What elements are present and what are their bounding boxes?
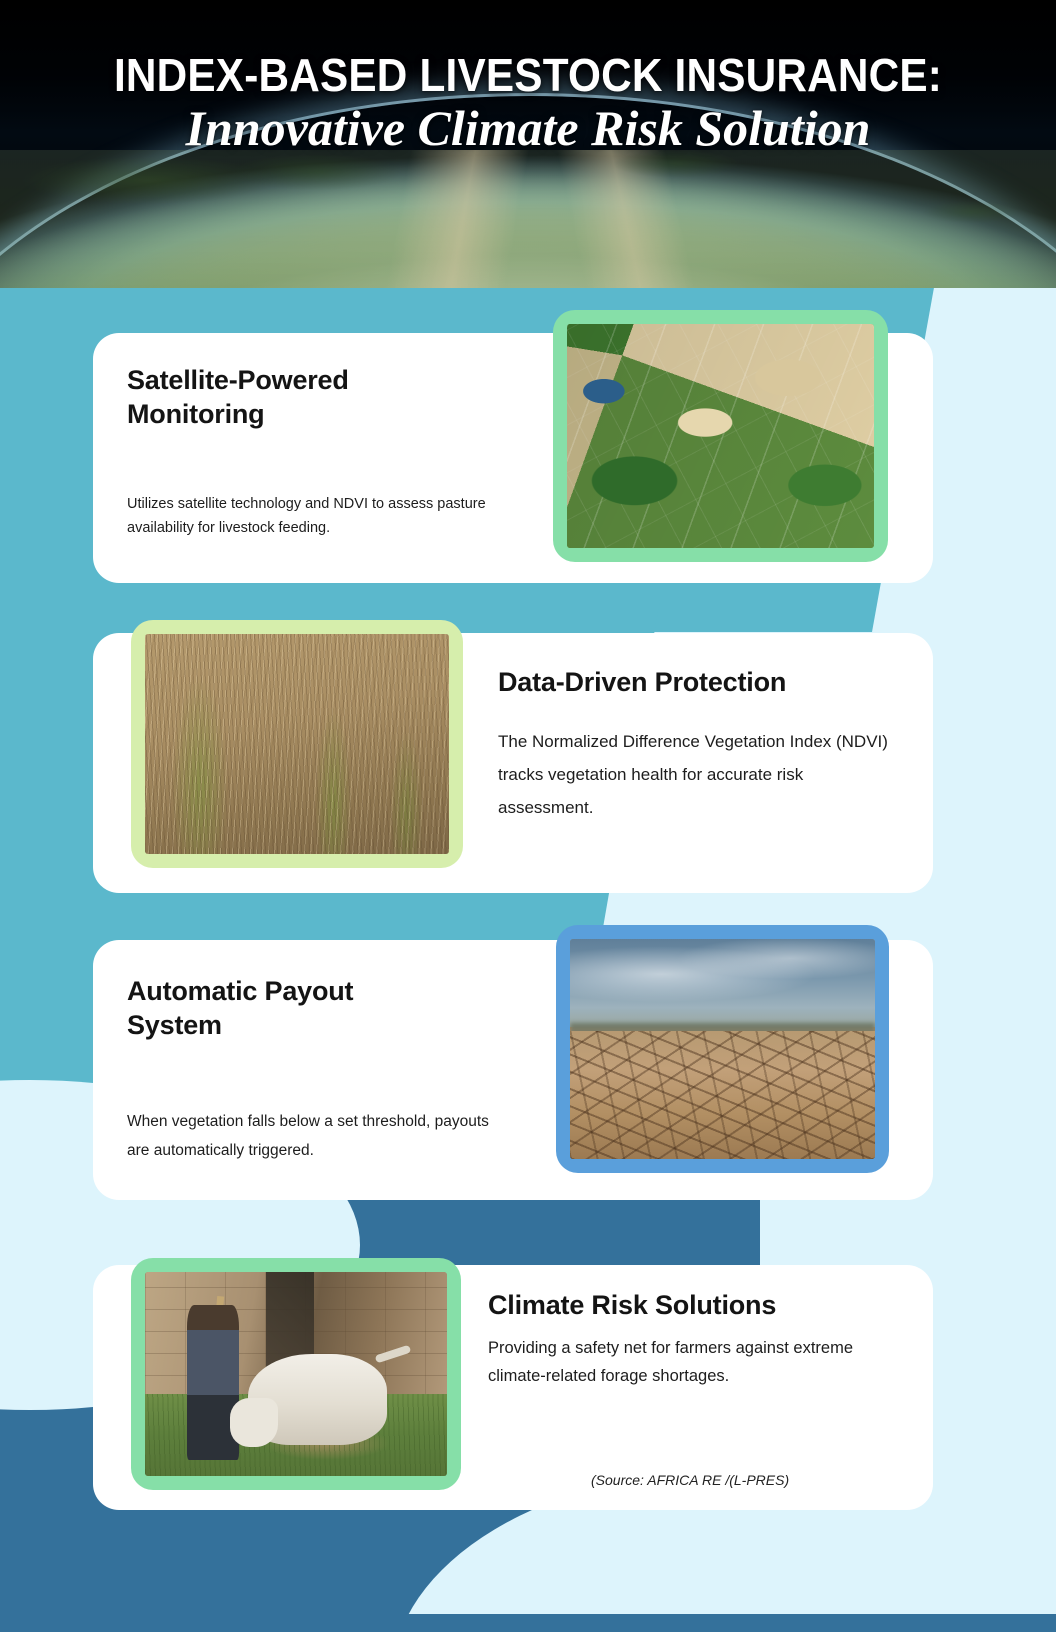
card-body-satellite-powered-monitoring: Utilizes satellite technology and NDVI t… xyxy=(127,493,502,540)
card-body-automatic-payout-system: When vegetation falls below a set thresh… xyxy=(127,1108,515,1165)
infographic-page: INDEX-BASED LIVESTOCK INSURANCE: Innovat… xyxy=(0,0,1056,1632)
cracked-dry-earth-drought-photo xyxy=(570,939,875,1159)
card-title-data-driven-protection: Data-Driven Protection xyxy=(498,665,908,699)
dry-grass-pasture-photo xyxy=(145,634,449,854)
header-banner: INDEX-BASED LIVESTOCK INSURANCE: Innovat… xyxy=(0,0,1056,288)
herder-with-cow-photo xyxy=(145,1272,447,1476)
card-title-satellite-powered-monitoring: Satellite-Powered Monitoring xyxy=(127,363,427,431)
page-title-line-1: INDEX-BASED LIVESTOCK INSURANCE: xyxy=(42,52,1014,98)
card-title-climate-risk-solutions: Climate Risk Solutions xyxy=(488,1288,908,1322)
background-bottom-strip xyxy=(0,1614,1056,1632)
source-note: (Source: AFRICA RE /(L-PRES) xyxy=(591,1472,789,1488)
card-body-climate-risk-solutions: Providing a safety net for farmers again… xyxy=(488,1334,880,1391)
page-title-line-2: Innovative Climate Risk Solution xyxy=(0,103,1056,153)
aerial-farmland-fields-photo xyxy=(567,324,874,548)
card-image-frame-aerial-farmland xyxy=(553,310,888,562)
page-title: INDEX-BASED LIVESTOCK INSURANCE: Innovat… xyxy=(0,52,1056,153)
card-image-frame-cracked-earth xyxy=(556,925,889,1173)
card-image-frame-dry-grass xyxy=(131,620,463,868)
card-image-frame-herder-cow xyxy=(131,1258,461,1490)
card-title-automatic-payout-system: Automatic Payout System xyxy=(127,974,417,1042)
header-terrain-texture xyxy=(0,150,1056,288)
card-body-data-driven-protection: The Normalized Difference Vegetation Ind… xyxy=(498,725,890,824)
